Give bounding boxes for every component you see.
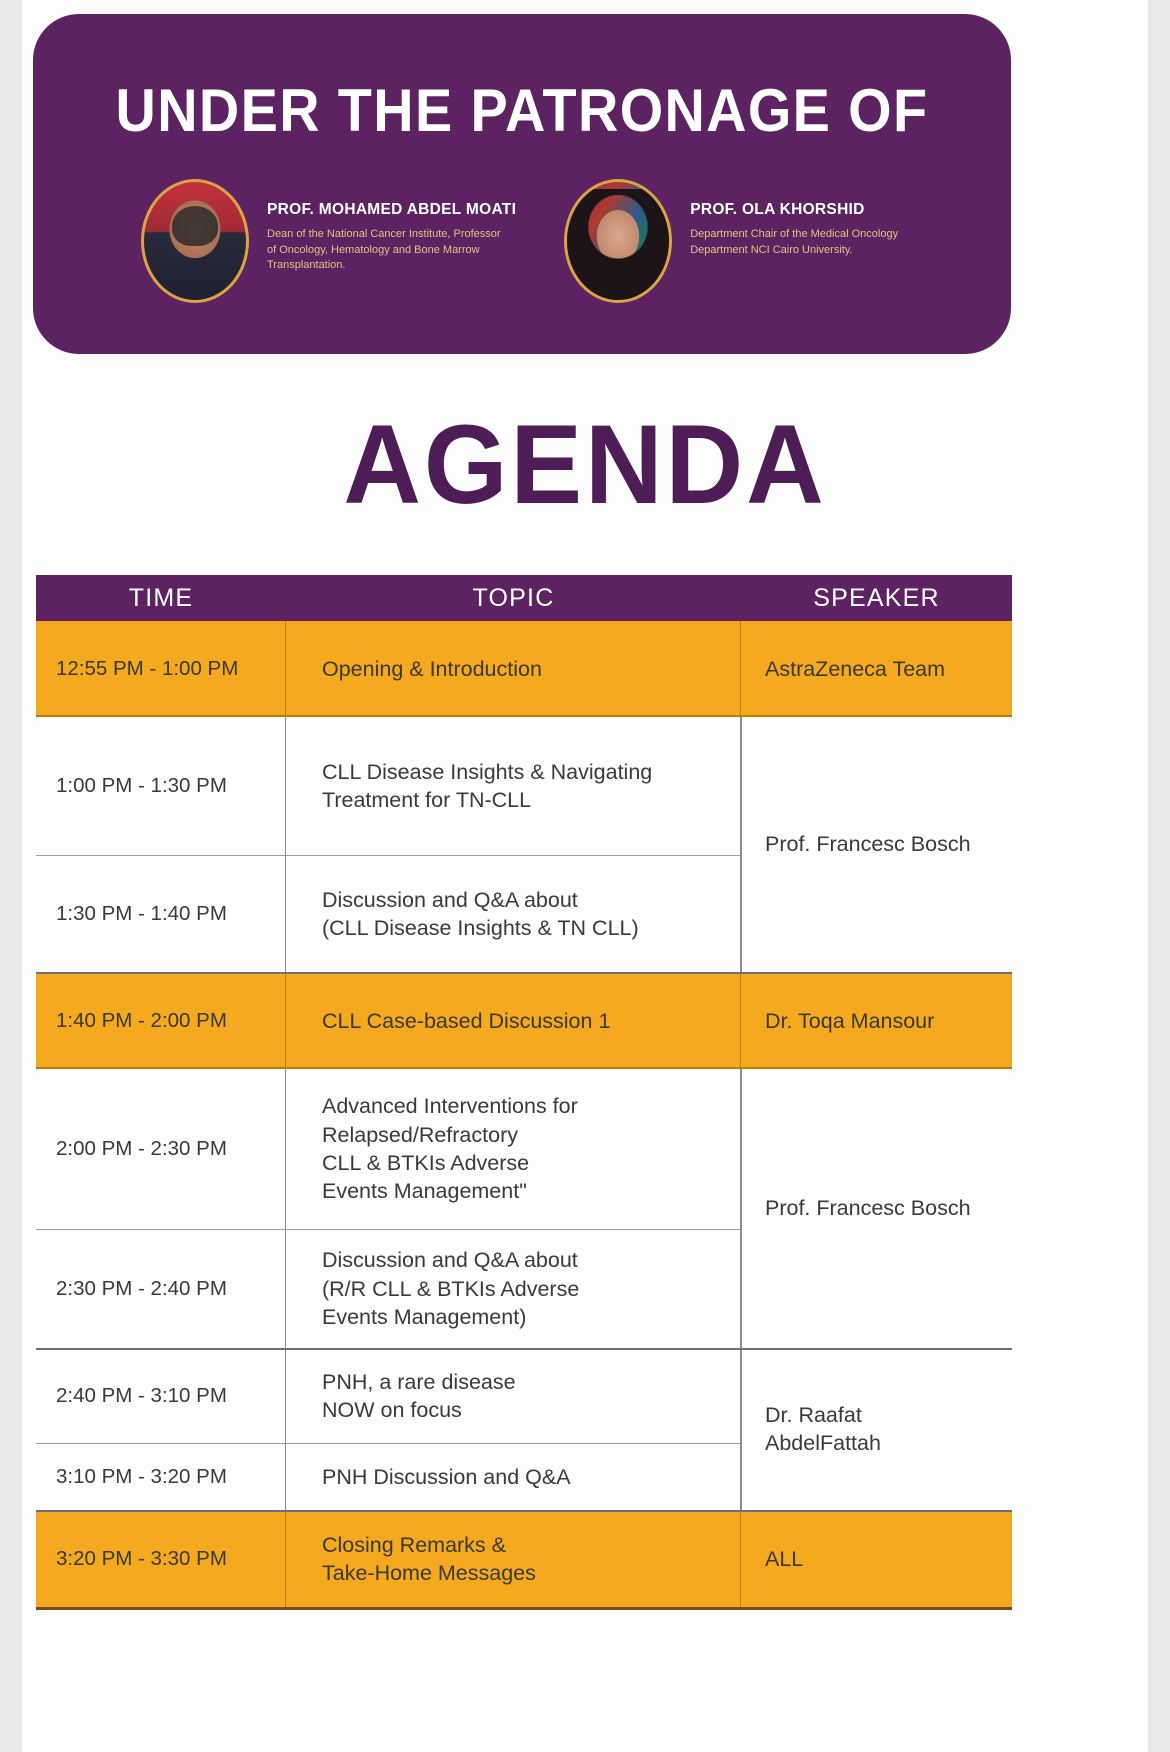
cell-speaker: Dr. Toqa Mansour: [741, 973, 1012, 1069]
table-row[interactable]: 3:20 PM - 3:30 PMClosing Remarks & Take-…: [36, 1511, 1012, 1607]
row-separator: [36, 715, 1012, 717]
table-row[interactable]: 2:40 PM - 3:10 PMPNH, a rare disease NOW…: [36, 1349, 1012, 1443]
cell-topic: Advanced Interventions for Relapsed/Refr…: [286, 1069, 741, 1229]
patron-list: PROF. MOHAMED ABDEL MOATI Dean of the Na…: [33, 179, 1011, 303]
cell-speaker: [741, 717, 1012, 855]
page-gutter-right: [1148, 0, 1170, 1752]
row-separator: [36, 1443, 741, 1444]
patron-card: PROF. OLA KHORSHID Department Chair of t…: [564, 179, 901, 303]
page-gutter-left: [0, 0, 22, 1752]
cell-time: 2:30 PM - 2:40 PM: [36, 1229, 286, 1349]
cell-topic: PNH, a rare disease NOW on focus: [286, 1349, 741, 1443]
cell-topic: Closing Remarks & Take-Home Messages: [286, 1511, 741, 1607]
table-row[interactable]: 12:55 PM - 1:00 PMOpening & Introduction…: [36, 621, 1012, 717]
column-header-topic: TOPIC: [286, 584, 741, 613]
table-row[interactable]: 1:30 PM - 1:40 PMDiscussion and Q&A abou…: [36, 855, 1012, 973]
cell-time: 1:40 PM - 2:00 PM: [36, 973, 286, 1069]
cell-topic: Discussion and Q&A about (R/R CLL & BTKI…: [286, 1229, 741, 1349]
speaker-column-divider: [741, 717, 742, 973]
cell-speaker: [741, 1349, 1012, 1443]
table-header-row: TIME TOPIC SPEAKER: [36, 575, 1012, 621]
cell-time: 3:10 PM - 3:20 PM: [36, 1443, 286, 1511]
table-row[interactable]: 1:40 PM - 2:00 PMCLL Case-based Discussi…: [36, 973, 1012, 1069]
table-body: 12:55 PM - 1:00 PMOpening & Introduction…: [36, 621, 1012, 1607]
page-title: AGENDA: [23, 400, 1146, 529]
patron-photo-male: [141, 179, 249, 303]
row-separator: [36, 972, 1012, 974]
cell-time: 1:00 PM - 1:30 PM: [36, 717, 286, 855]
banner-title: UNDER THE PATRONAGE OF: [67, 76, 977, 145]
cell-topic: CLL Disease Insights & Navigating Treatm…: [286, 717, 741, 855]
cell-speaker: [741, 1229, 1012, 1349]
table-bottom-border: [36, 1607, 1012, 1610]
cell-time: 2:00 PM - 2:30 PM: [36, 1069, 286, 1229]
patron-name: PROF. MOHAMED ABDEL MOATI: [267, 201, 516, 219]
cell-speaker: AstraZeneca Team: [741, 621, 1012, 717]
cell-topic: CLL Case-based Discussion 1: [286, 973, 741, 1069]
cell-speaker: ALL: [741, 1511, 1012, 1607]
cell-time: 2:40 PM - 3:10 PM: [36, 1349, 286, 1443]
patron-text: PROF. OLA KHORSHID Department Chair of t…: [690, 179, 901, 258]
cell-speaker: [741, 1443, 1012, 1511]
row-separator: [36, 1348, 1012, 1350]
patron-bio: Department Chair of the Medical Oncology…: [690, 227, 901, 258]
speaker-column-divider: [741, 1069, 742, 1349]
table-row[interactable]: 2:00 PM - 2:30 PMAdvanced Interventions …: [36, 1069, 1012, 1229]
row-separator: [36, 1510, 1012, 1512]
cell-topic: Opening & Introduction: [286, 621, 741, 717]
patron-bio: Dean of the National Cancer Institute, P…: [267, 227, 512, 274]
cell-time: 3:20 PM - 3:30 PM: [36, 1511, 286, 1607]
row-separator: [36, 1067, 1012, 1069]
patron-card: PROF. MOHAMED ABDEL MOATI Dean of the Na…: [141, 179, 516, 303]
patron-name: PROF. OLA KHORSHID: [690, 201, 901, 219]
cell-speaker: [741, 1069, 1012, 1229]
cell-time: 12:55 PM - 1:00 PM: [36, 621, 286, 717]
cell-time: 1:30 PM - 1:40 PM: [36, 855, 286, 973]
cell-topic: PNH Discussion and Q&A: [286, 1443, 741, 1511]
row-separator: [36, 1229, 741, 1230]
agenda-table: TIME TOPIC SPEAKER 12:55 PM - 1:00 PMOpe…: [36, 575, 1012, 1607]
patron-photo-female: [564, 179, 672, 303]
speaker-column-divider: [741, 1349, 742, 1511]
table-row[interactable]: 3:10 PM - 3:20 PMPNH Discussion and Q&A: [36, 1443, 1012, 1511]
cell-speaker: [741, 855, 1012, 973]
table-row[interactable]: 1:00 PM - 1:30 PMCLL Disease Insights & …: [36, 717, 1012, 855]
column-header-time: TIME: [36, 584, 286, 613]
table-row[interactable]: 2:30 PM - 2:40 PMDiscussion and Q&A abou…: [36, 1229, 1012, 1349]
patronage-banner: UNDER THE PATRONAGE OF PROF. MOHAMED ABD…: [33, 14, 1011, 354]
column-header-speaker: SPEAKER: [741, 584, 1012, 613]
agenda-poster: UNDER THE PATRONAGE OF PROF. MOHAMED ABD…: [0, 0, 1170, 1752]
cell-topic: Discussion and Q&A about (CLL Disease In…: [286, 855, 741, 973]
patron-text: PROF. MOHAMED ABDEL MOATI Dean of the Na…: [267, 179, 516, 274]
row-separator: [36, 855, 741, 856]
